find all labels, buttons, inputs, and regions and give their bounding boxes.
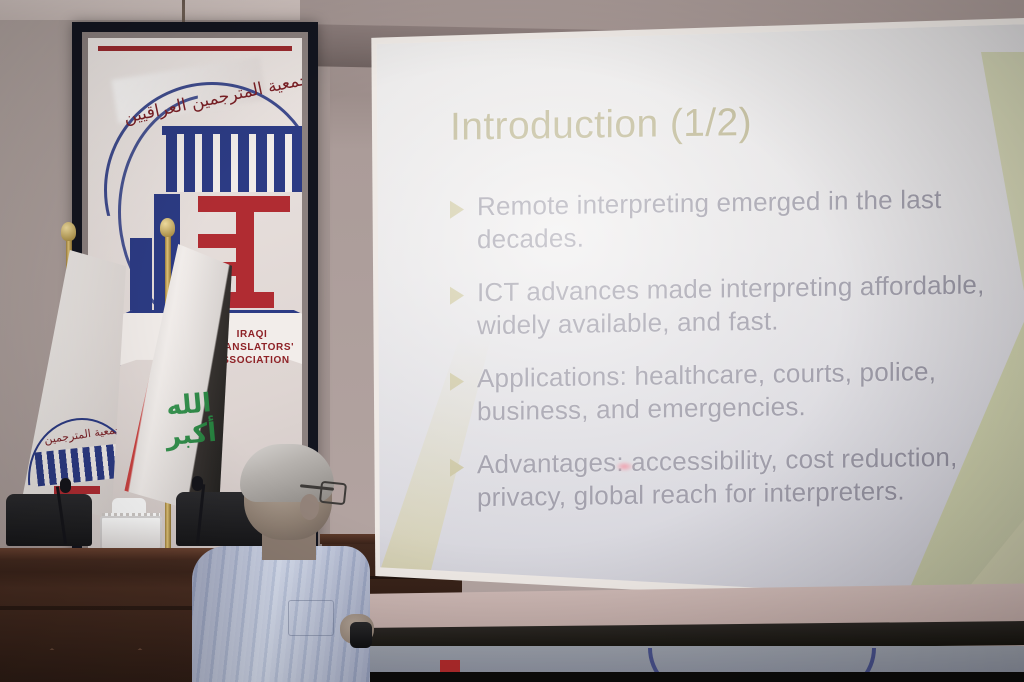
chair-left — [6, 494, 92, 546]
projection-screen: Introduction (1/2) Remote interpreting e… — [358, 18, 1024, 638]
banner-english-line-1: IRAQI — [237, 329, 268, 340]
glasses-lens — [319, 481, 347, 506]
presentation-slide: Introduction (1/2) Remote interpreting e… — [358, 18, 1024, 638]
tissue-box — [100, 516, 162, 550]
banner-red-line — [98, 46, 292, 51]
flagpole-finial-right — [160, 218, 175, 237]
slide-light-falloff — [358, 18, 1024, 638]
presenter-ear — [300, 494, 319, 520]
microphone-head-left — [60, 478, 71, 493]
logo-column-bars — [166, 134, 302, 192]
presenter-shirt-pocket — [288, 600, 334, 636]
red-wall-marker — [440, 660, 460, 672]
presenter-shirt-shading — [192, 546, 370, 682]
presentation-photo: جمعية المترجمين العراقيين IRAQI TRANSLAT… — [0, 0, 1024, 682]
flagpole-finial-left — [61, 222, 76, 241]
microphone-head-right — [192, 476, 203, 491]
presentation-clicker — [350, 622, 372, 648]
